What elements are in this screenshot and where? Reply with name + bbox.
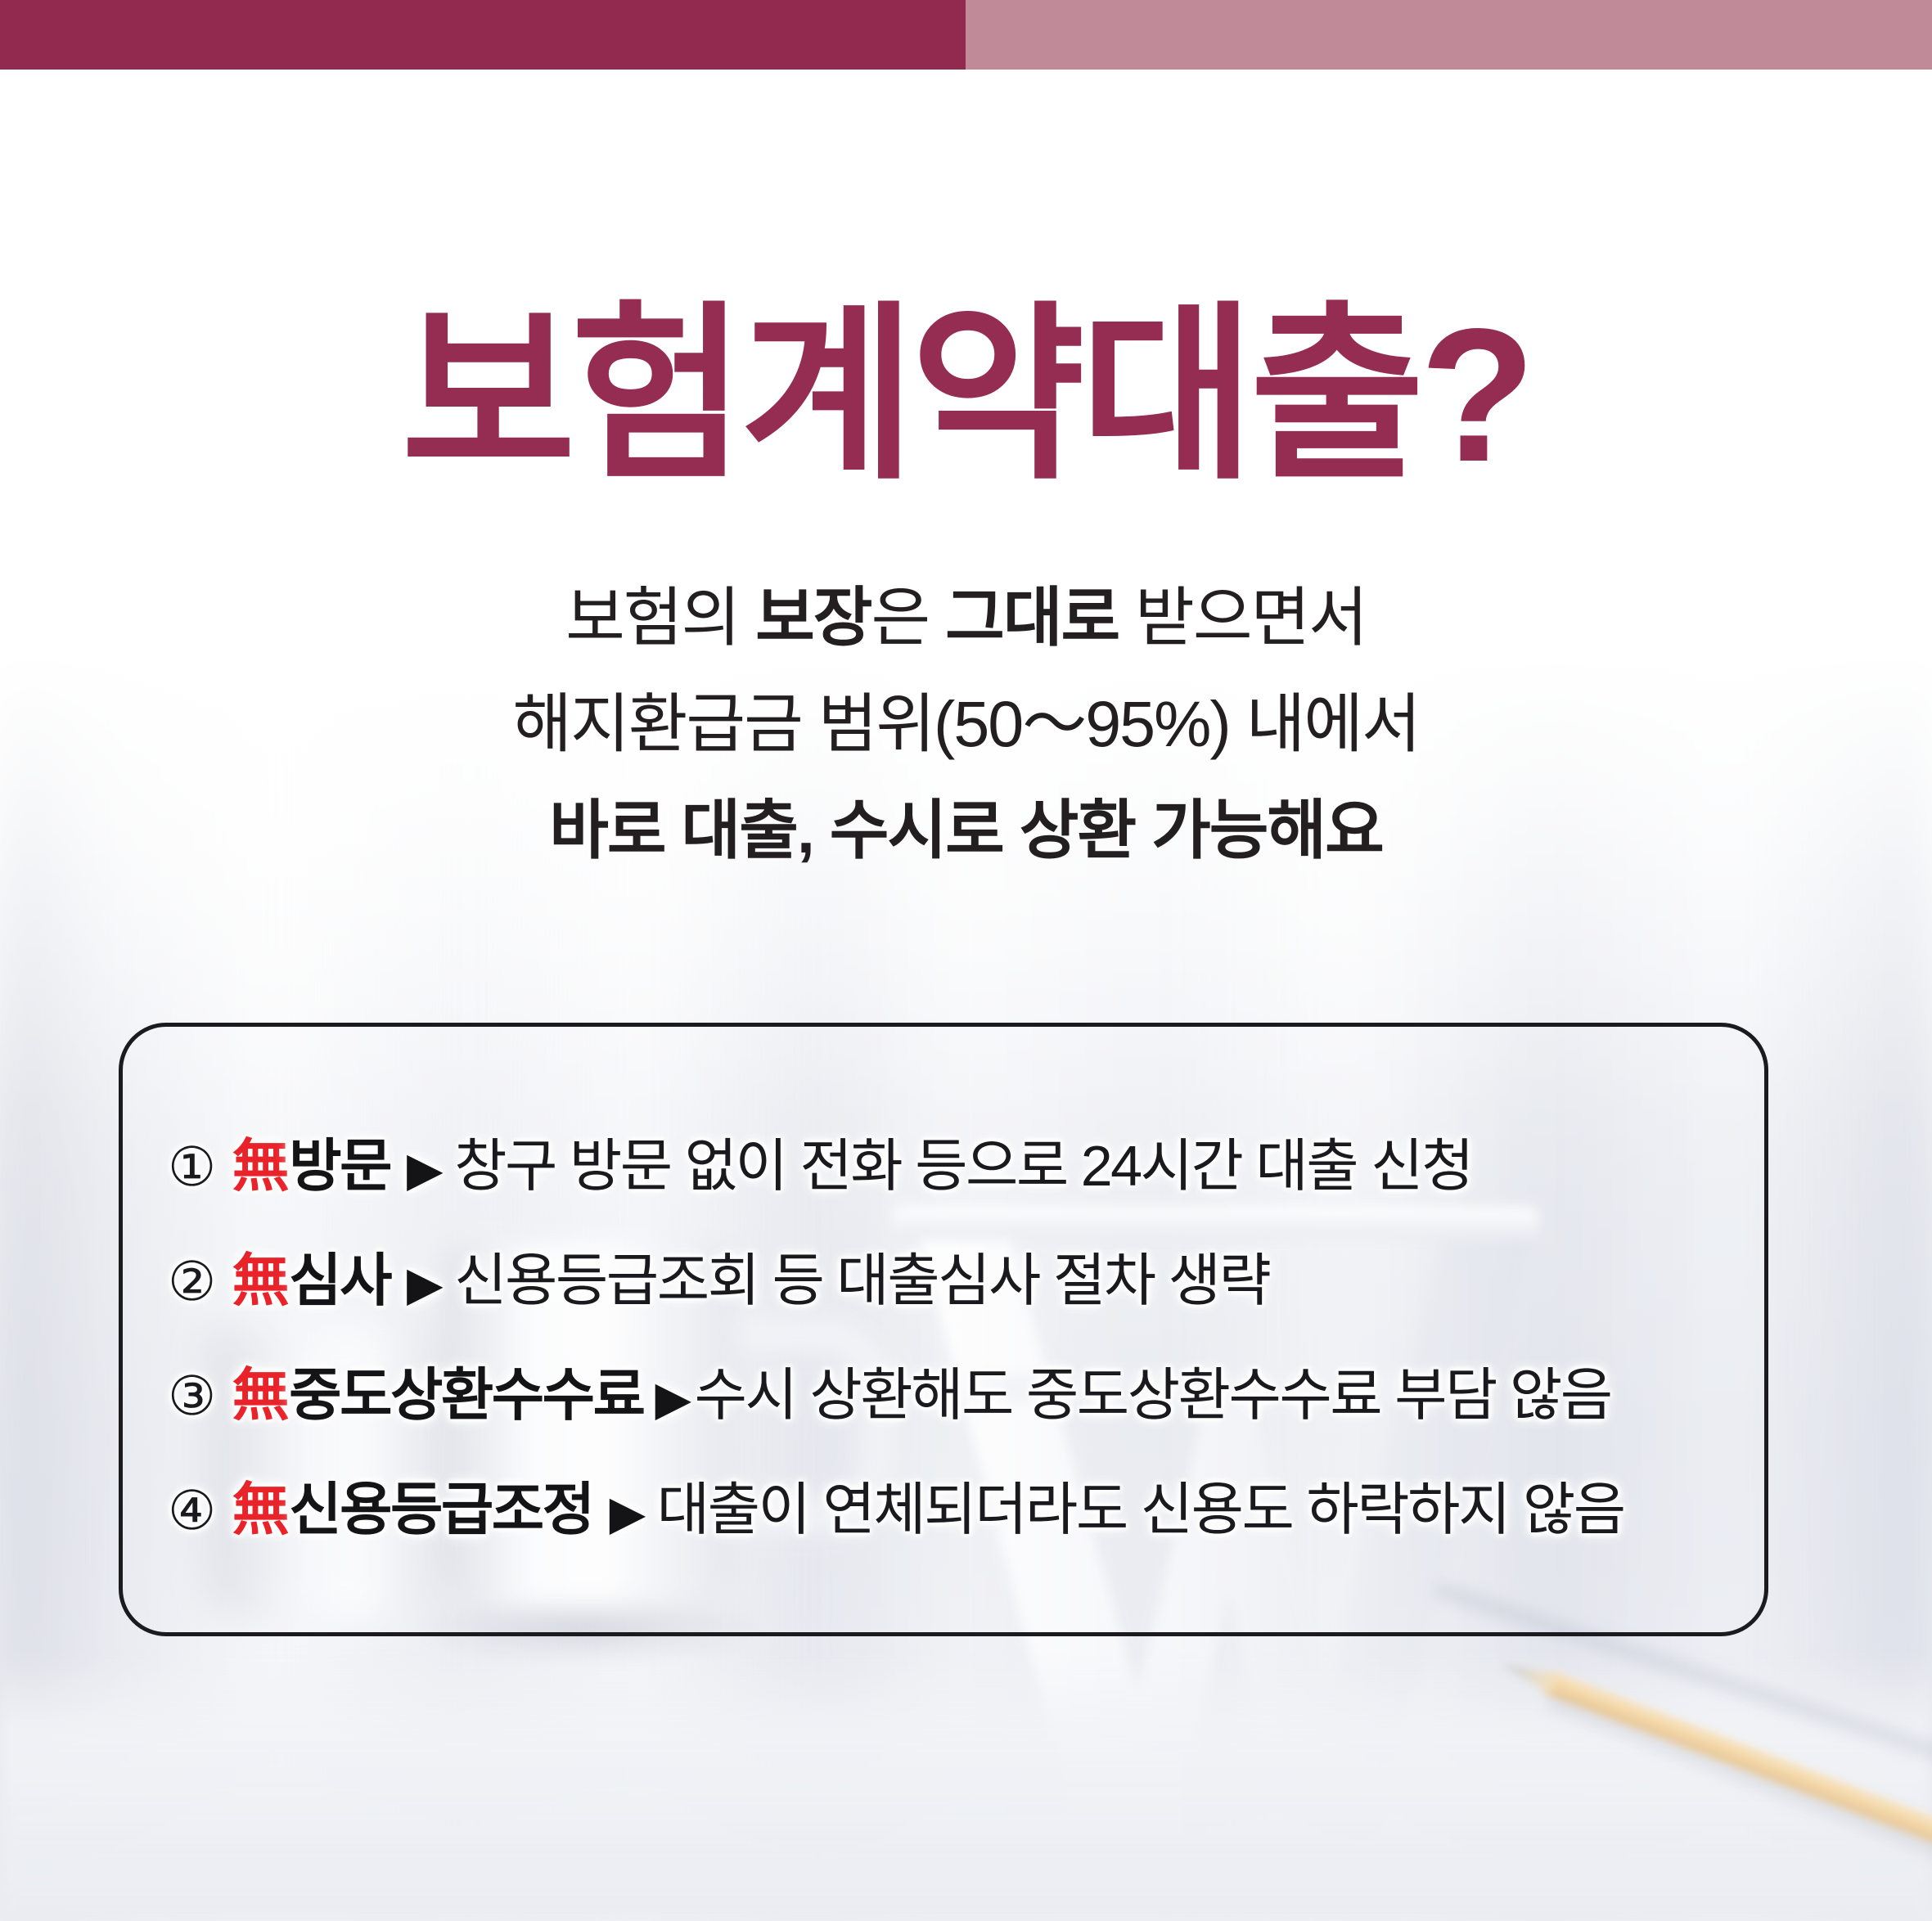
bullet-number-3: ③ [168,1338,214,1453]
subtitle-line-3: 바로 대출, 수시로 상환 가능해요 [0,777,1932,884]
subtitle-line1-bold2: 그대로 [945,581,1119,654]
triangle-right-icon: ▶ [655,1342,689,1456]
bullet-description-4: 대출이 연체되더라도 신용도 하락하지 않음 [657,1452,1624,1567]
subtitle-line-2: 해지환급금 범위(50～95%) 내에서 [0,671,1932,777]
brand-bar-right-segment [966,0,1932,70]
top-brand-bar [0,0,1932,70]
triangle-right-icon: ▶ [407,1113,441,1227]
subtitle-block: 보험의 보장은 그대로 받으면서 해지환급금 범위(50～95%) 내에서 바로… [0,565,1932,884]
brand-bar-left-segment [0,0,966,70]
list-item: ① 無 방문 ▶ 창구 방문 없이 전화 등으로 24시간 대출 신청 [168,1109,1886,1223]
poster-root: 보험계약대출? 보험의 보장은 그대로 받으면서 해지환급금 범위(50～95%… [0,0,1932,1921]
mu-character-1: 無 [232,1109,288,1223]
mu-character-3: 無 [232,1338,288,1452]
bullet-keyword-2: 심사 [289,1223,390,1338]
bullet-description-1: 창구 방문 없이 전화 등으로 24시간 대출 신청 [454,1109,1472,1223]
bullet-keyword-1: 방문 [289,1109,390,1223]
subtitle-line-1: 보험의 보장은 그대로 받으면서 [0,565,1932,671]
subtitle-line1-part2: 은 [871,581,946,654]
page-title: 보험계약대출? [0,301,1932,491]
list-item: ③ 無 중도상환수수료 ▶ 수시 상환해도 중도상환수수료 부담 않음 [168,1338,1886,1452]
bullet-keyword-3: 중도상환수수료 [289,1338,643,1452]
subtitle-line1-bold1: 보장 [755,581,871,654]
bullet-keyword-4: 신용등급조정 [289,1452,592,1567]
triangle-right-icon: ▶ [407,1227,441,1342]
bullet-number-4: ④ [168,1453,214,1568]
mu-character-2: 無 [232,1223,288,1338]
mu-character-4: 無 [232,1452,288,1567]
bullet-description-2: 신용등급조회 등 대출심사 절차 생략 [454,1223,1269,1338]
triangle-right-icon: ▶ [610,1456,644,1571]
bullet-number-2: ② [168,1224,214,1338]
list-item: ② 無 심사 ▶ 신용등급조회 등 대출심사 절차 생략 [168,1223,1886,1338]
benefits-list: ① 無 방문 ▶ 창구 방문 없이 전화 등으로 24시간 대출 신청 ② 無 … [168,1109,1886,1567]
bullet-number-1: ① [168,1109,214,1224]
list-item: ④ 無 신용등급조정 ▶ 대출이 연체되더라도 신용도 하락하지 않음 [168,1452,1886,1567]
subtitle-line1-part1: 보험의 [565,581,755,654]
subtitle-line1-part3: 받으면서 [1119,581,1367,654]
bullet-description-3: 수시 상환해도 중도상환수수료 부담 않음 [695,1338,1611,1452]
